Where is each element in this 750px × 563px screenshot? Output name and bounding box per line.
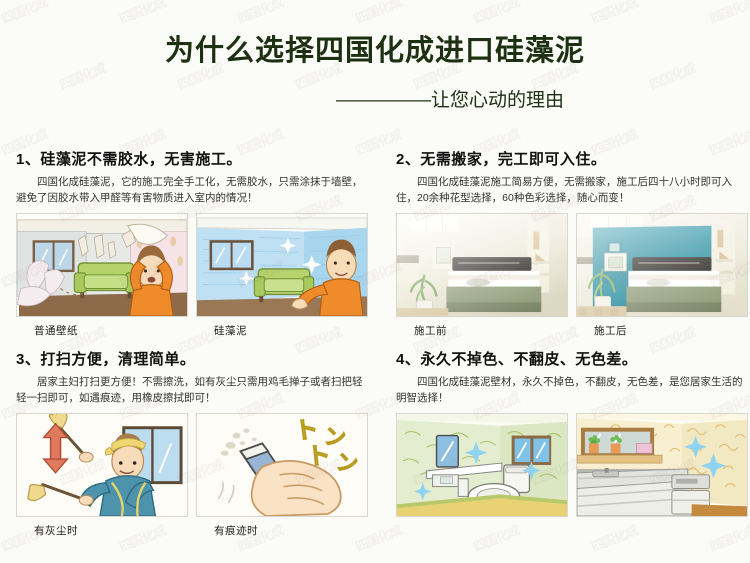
image-block-after: 施工后 xyxy=(576,213,748,338)
section-1-heading: 1、硅藻泥不需胶水，无害施工。 xyxy=(16,148,368,169)
section-2: 2、无需搬家，完工即可入住。 四国化成硅藻泥施工简易方便，无需搬家，施工后四十八… xyxy=(396,148,748,338)
section-3-heading: 3、打扫方便，清理简单。 xyxy=(16,348,368,369)
watermark-text: 四国化成 xyxy=(470,0,522,27)
caption-wallpaper: 普通壁纸 xyxy=(16,323,188,338)
watermark-text: 四国化成 xyxy=(352,0,404,27)
svg-text:ト: ト xyxy=(293,414,320,445)
section-3-body: 居家主妇打扫更方便！不需擦洗，如有灰尘只需用鸡毛掸子或者扫把轻轻一扫即可，如遇痕… xyxy=(16,374,368,407)
watermark-text: 四国化成 xyxy=(588,0,640,27)
section-3: 3、打扫方便，清理简单。 居家主妇打扫更方便！不需擦洗，如有灰尘只需用鸡毛掸子或… xyxy=(16,348,368,538)
image-block-bathroom xyxy=(396,413,568,523)
caption-diatom: 硅藻泥 xyxy=(196,323,368,338)
watermark-text: 四国化成 xyxy=(706,0,750,27)
watermark-text: 四国化成 xyxy=(470,520,522,556)
section-4-images xyxy=(396,413,748,523)
promo-page: 四国化成四国化成四国化成四国化成四国化成四国化成四国化成四国化成四国化成四国化成… xyxy=(0,0,750,563)
image-block-wallpaper: 普通壁纸 xyxy=(16,213,188,338)
watermark-text: 四国化成 xyxy=(0,0,50,27)
section-1-body: 四国化成硅藻泥，它的施工完全手工化，无需胶水，只需涂抹于墙壁，避免了因胶水带入甲… xyxy=(16,174,368,207)
kitchen-cream-wall-illustration xyxy=(576,413,748,517)
section-4: 4、永久不掉色、不翻皮、无色差。 四国化成硅藻泥壁材，永久不掉色，不翻皮，无色差… xyxy=(396,348,748,523)
hand-with-eraser-illustration: ト ン ト ン xyxy=(196,413,368,517)
watermark-text: 四国化成 xyxy=(706,520,750,556)
page-title: 为什么选择四国化成进口硅藻泥 xyxy=(0,34,750,69)
svg-text:ト: ト xyxy=(305,440,332,470)
section-3-images: 有灰尘时 xyxy=(16,413,368,538)
caption-mark: 有痕迹时 xyxy=(196,523,368,538)
caption-dust: 有灰尘时 xyxy=(16,523,188,538)
svg-text:ン: ン xyxy=(335,450,360,478)
watermark-text: 四国化成 xyxy=(234,0,286,27)
page-subtitle: —————让您心动的理由 xyxy=(0,85,750,112)
image-block-dust: 有灰尘时 xyxy=(16,413,188,538)
image-block-before: 施工前 xyxy=(396,213,568,338)
section-2-heading: 2、无需搬家，完工即可入住。 xyxy=(396,148,748,169)
section-2-images: 施工前 xyxy=(396,213,748,338)
section-2-body: 四国化成硅藻泥施工简易方便，无需搬家，施工后四十八小时即可入住，20余种花型选择… xyxy=(396,174,748,207)
section-4-heading: 4、永久不掉色、不翻皮、无色差。 xyxy=(396,348,748,369)
bathroom-green-wall-illustration xyxy=(396,413,568,517)
image-block-mark: ト ン ト ン 有痕迹时 xyxy=(196,413,368,538)
bedroom-photo-after-teal xyxy=(576,213,748,317)
caption-after: 施工后 xyxy=(576,323,748,338)
watermark-text: 四国化成 xyxy=(116,0,168,27)
section-1-images: 普通壁纸 xyxy=(16,213,368,338)
person-sweeping-with-broom-illustration xyxy=(16,413,188,517)
clean-blue-room-illustration xyxy=(196,213,368,317)
page-header: 为什么选择四国化成进口硅藻泥 —————让您心动的理由 xyxy=(0,34,750,112)
bedroom-photo-before-beige xyxy=(396,213,568,317)
section-4-body: 四国化成硅藻泥壁材，永久不掉色，不翻皮，无色差，是您居家生活的明智选择！ xyxy=(396,374,748,407)
peeling-wallpaper-room-illustration xyxy=(16,213,188,317)
watermark-text: 四国化成 xyxy=(588,520,640,556)
image-block-kitchen xyxy=(576,413,748,523)
section-1: 1、硅藻泥不需胶水，无害施工。 四国化成硅藻泥，它的施工完全手工化，无需胶水，只… xyxy=(16,148,368,338)
caption-before: 施工前 xyxy=(396,323,568,338)
image-block-diatom: 硅藻泥 xyxy=(196,213,368,338)
